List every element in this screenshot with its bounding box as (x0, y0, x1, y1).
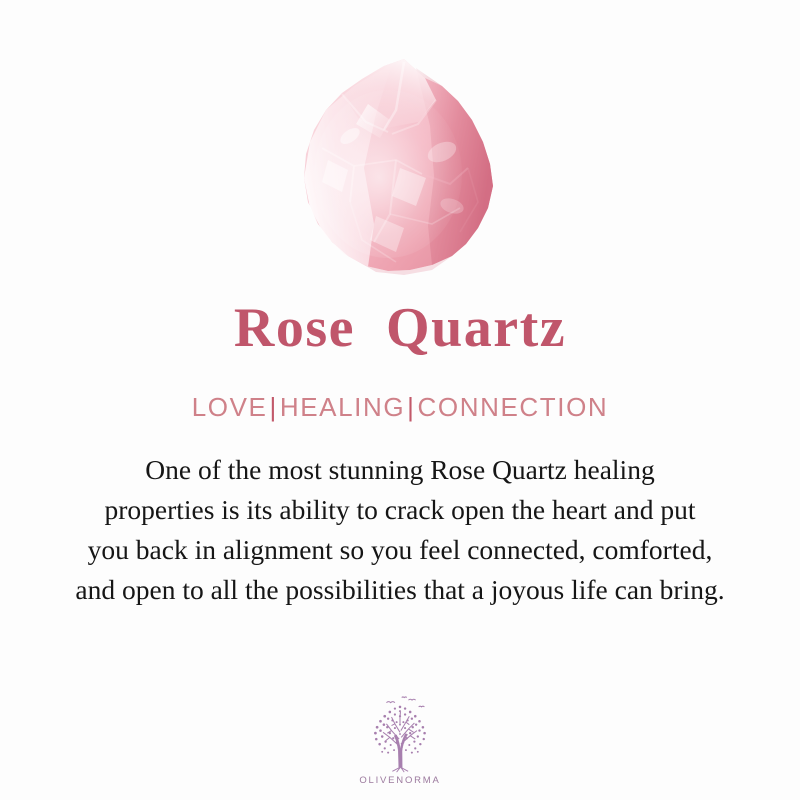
hero-image-area (0, 0, 800, 300)
tree-icon (357, 695, 443, 773)
description-line: properties is its ability to crack open … (20, 490, 780, 530)
product-description: One of the most stunning Rose Quartz hea… (20, 450, 780, 610)
rose-quartz-crystal-icon (292, 56, 508, 278)
description-line: and open to all the possibilities that a… (20, 570, 780, 610)
brand-name: OLIVENORMA (359, 775, 440, 786)
product-card: Rose Quartz LOVE|HEALING|CONNECTION One … (0, 0, 800, 800)
tree-roots (392, 768, 408, 772)
brand-logo: OLIVENORMA (0, 695, 800, 786)
rose-quartz-crystal (292, 56, 508, 278)
page-title: Rose Quartz (234, 300, 566, 356)
keyword-subtitle: LOVE|HEALING|CONNECTION (192, 394, 609, 420)
keyword-separator-1: | (267, 392, 279, 422)
description-line: One of the most stunning Rose Quartz hea… (20, 450, 780, 490)
birds-icon (386, 697, 424, 707)
description-line: you back in alignment so you feel connec… (20, 530, 780, 570)
keyword-connection: CONNECTION (418, 392, 609, 422)
keyword-separator-2: | (405, 392, 417, 422)
keyword-love: LOVE (192, 392, 268, 422)
keyword-healing: HEALING (280, 392, 405, 422)
